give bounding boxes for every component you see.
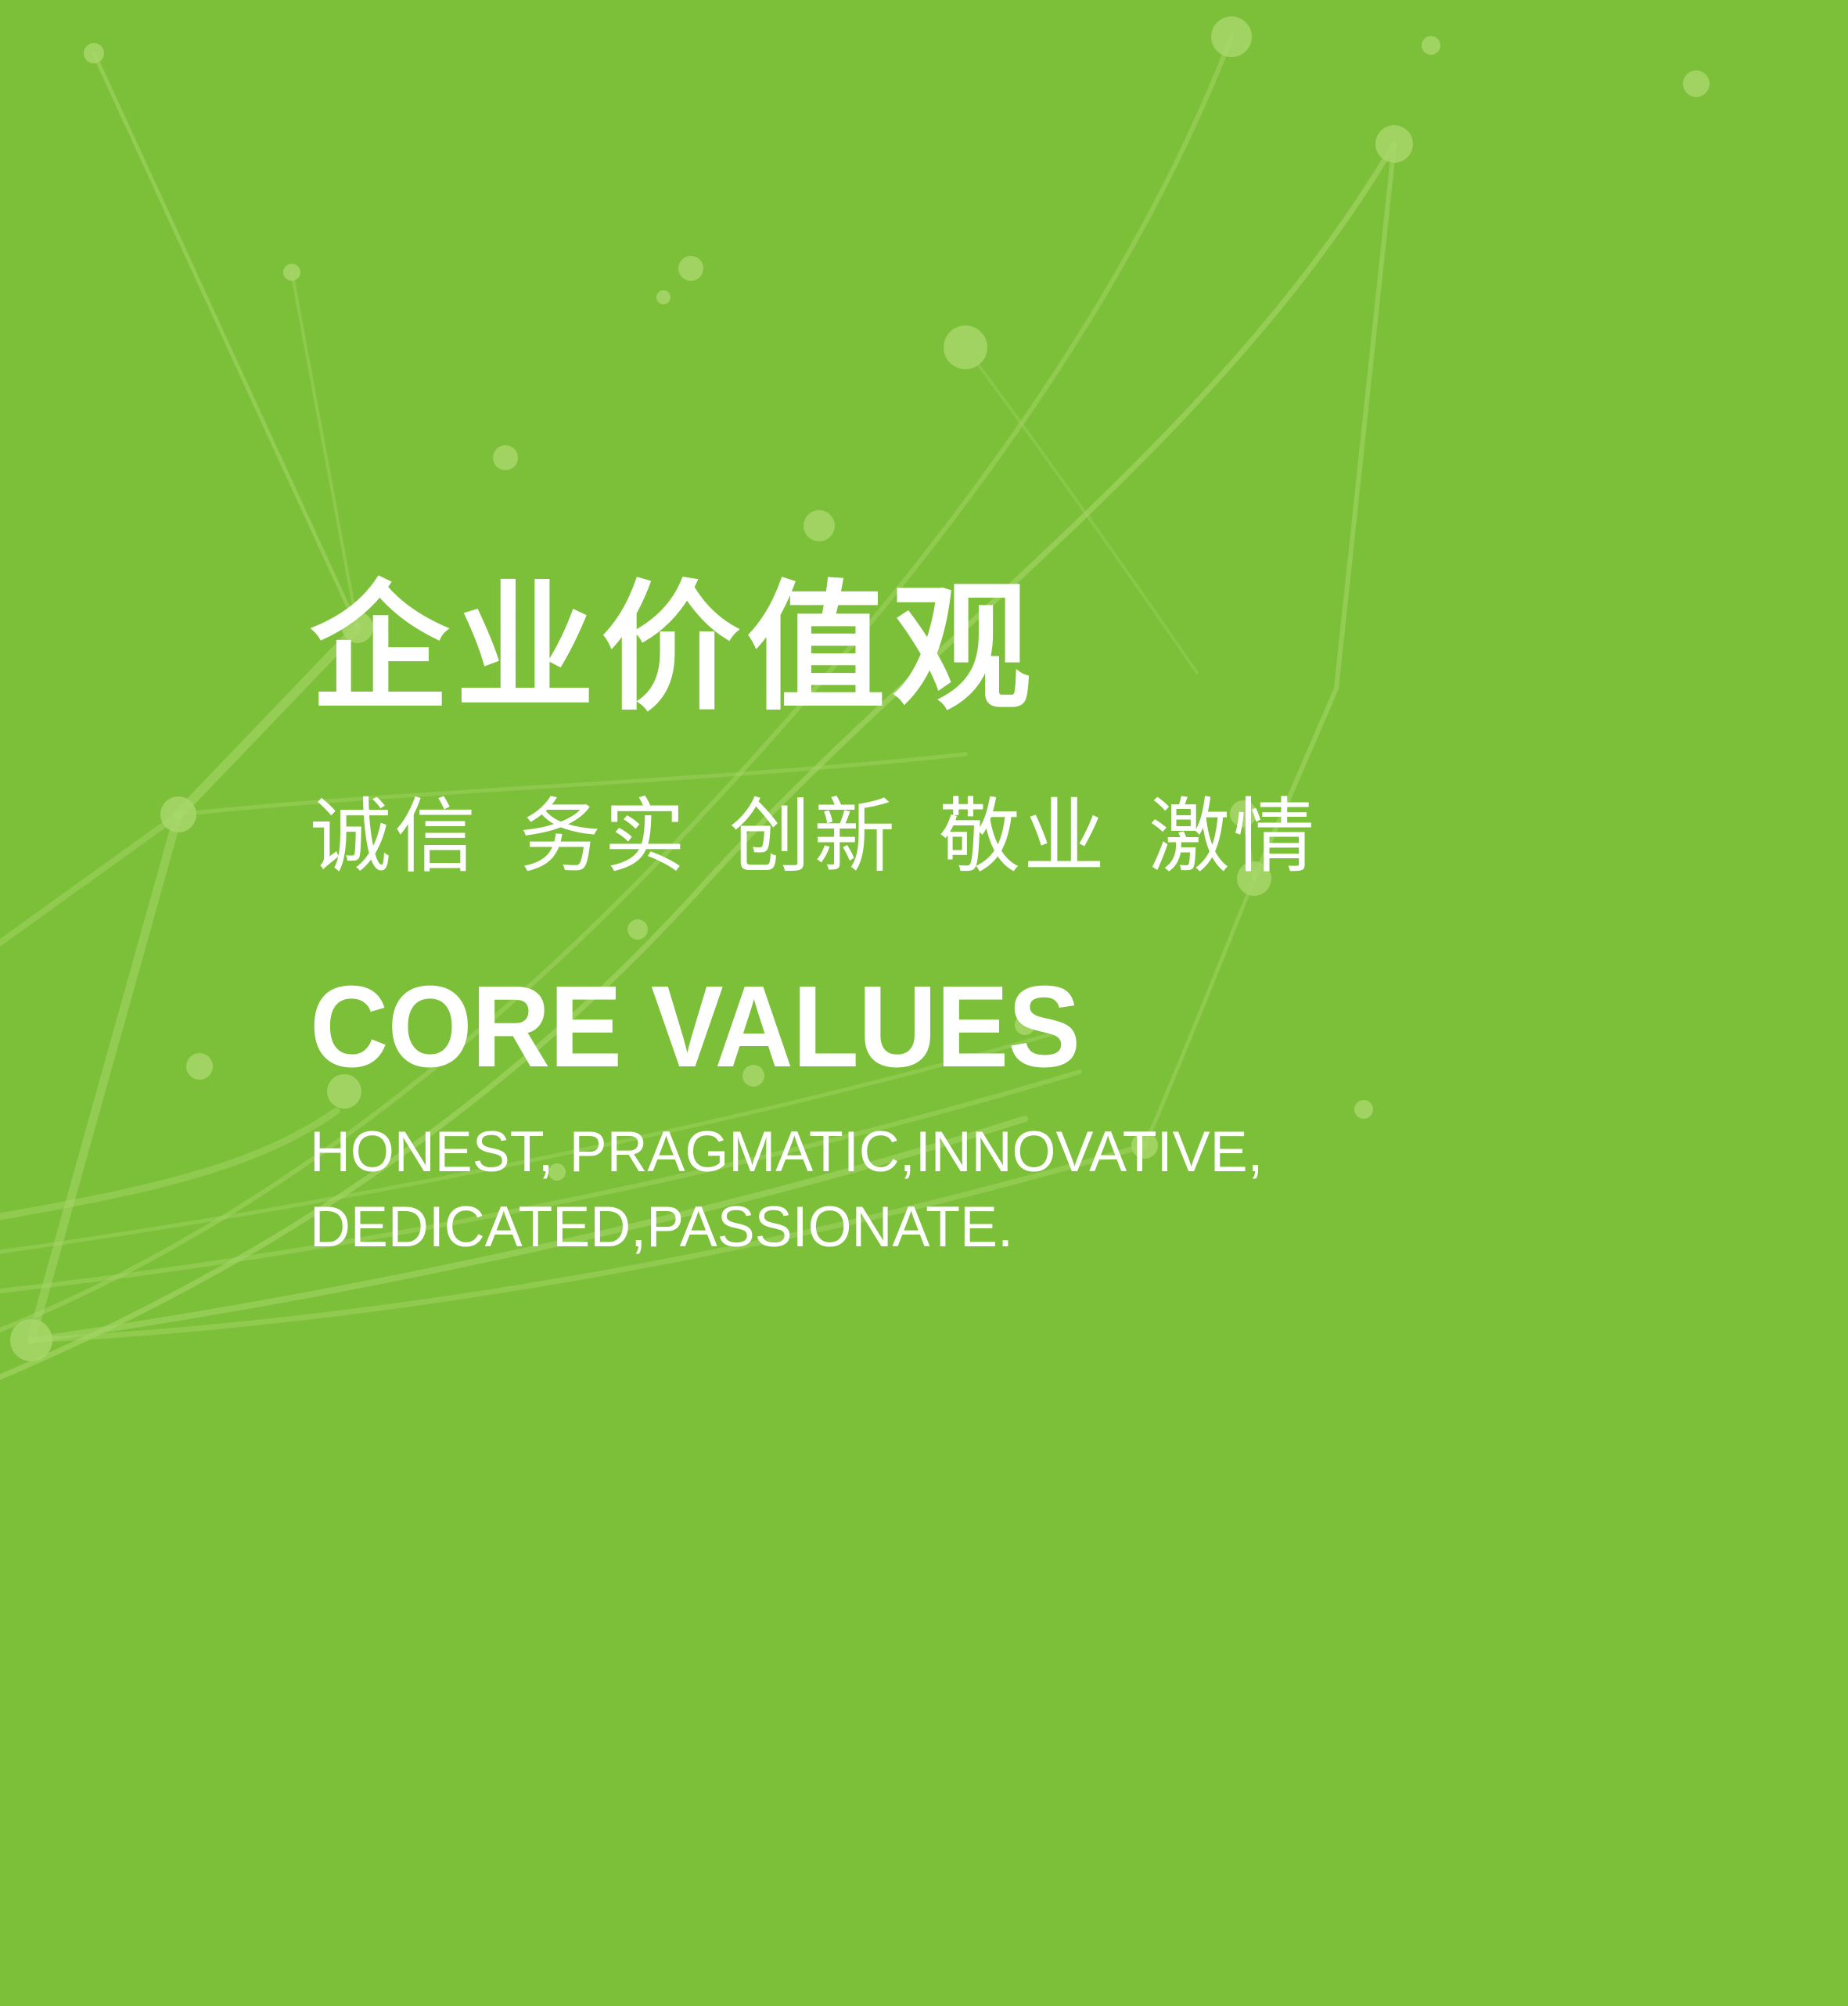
network-node [656,290,671,304]
value-word-3: 创新 [729,796,898,878]
network-node [678,256,703,281]
network-node [1683,70,1710,97]
subtitle-en-line-2: DEDICATED,PASSIONATE. [310,1190,1697,1265]
network-node [84,43,104,63]
network-node [493,445,518,470]
value-word-2: 务实 [520,796,689,878]
network-node [1375,125,1413,163]
subtitle-cn: 诚信务实创新敬业激情 [310,796,1718,878]
core-values-poster: 企业价值观 诚信务实创新敬业激情 CORE VALUES HONEST, PRA… [0,0,1848,2006]
subtitle-en-line-1: HONEST, PRAGMATIC,INNOVATIVE, [310,1115,1697,1190]
value-word-5: 激情 [1149,796,1318,878]
poster-content: 企业价值观 诚信务实创新敬业激情 CORE VALUES HONEST, PRA… [310,579,1718,1265]
network-node [944,325,987,369]
network-node [1422,36,1440,55]
page-title-cn: 企业价值观 [310,579,1718,718]
network-node [10,1319,52,1361]
network-node [186,1053,213,1080]
value-word-4: 敬业 [939,796,1108,878]
network-node [160,796,196,832]
network-node [804,510,835,541]
subtitle-en: HONEST, PRAGMATIC,INNOVATIVE, DEDICATED,… [310,1115,1697,1265]
value-word-1: 诚信 [310,796,479,878]
network-node [1211,16,1252,57]
network-node [283,264,300,281]
page-title-en: CORE VALUES [310,969,1634,1085]
